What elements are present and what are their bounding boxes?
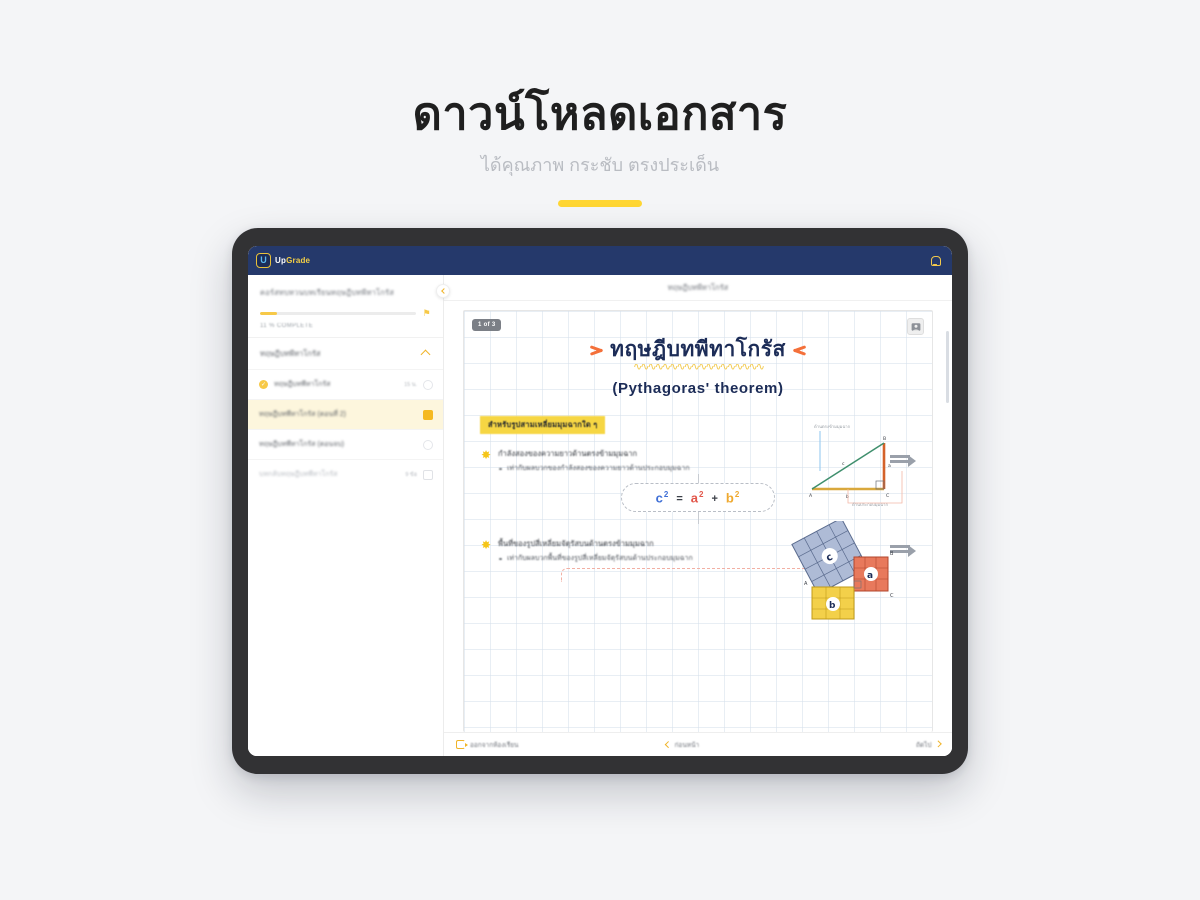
chevron-up-icon [421, 349, 431, 359]
brand-logo[interactable]: U UpGrade [256, 253, 310, 268]
brand-text-grade: Grade [286, 256, 310, 265]
arrow-in-left-icon [794, 347, 807, 354]
page-title: ดาวน์โหลดเอกสาร [0, 86, 1200, 142]
brand-text-up: Up [275, 256, 286, 265]
download-icon[interactable] [907, 318, 924, 335]
main-header: ทฤษฎีบทพีทาโกรัส [444, 275, 952, 301]
formula-term-a: a2 [691, 490, 705, 505]
progress-track [260, 312, 416, 315]
main-header-title: ทฤษฎีบทพีทาโกรัส [668, 282, 728, 294]
trophy-icon: ⚑ [422, 309, 431, 318]
document-title-english: (Pythagoras' theorem) [480, 380, 916, 397]
exit-icon [456, 740, 465, 749]
page-counter-badge: 1 of 3 [472, 319, 501, 331]
svg-text:A: A [804, 581, 808, 587]
document-viewer[interactable]: 1 of 3 ท [444, 301, 952, 732]
lesson-question-count: 9 ข้อ [405, 471, 417, 479]
svg-text:b: b [829, 601, 836, 611]
course-title: คอร์สทบทวนบทเรียนทฤษฎีบทพีทาโกรัส [260, 287, 431, 298]
sidebar-item-lesson-4[interactable]: บทกลับทฤษฎีบทพีทาโกรัส 9 ข้อ [248, 459, 443, 489]
document-page: 1 of 3 ท [463, 310, 933, 732]
arrow-in-right-icon [589, 347, 602, 354]
formula-term-b: b2 [726, 490, 740, 505]
course-progress: ⚑ [260, 309, 431, 318]
notification-bell-icon[interactable] [928, 254, 942, 268]
hero-section: ดาวน์โหลดเอกสาร ได้คุณภาพ กระชับ ตรงประเ… [0, 0, 1200, 207]
sidebar-section-header[interactable]: ทฤษฎีบทพีทาโกรัส [248, 337, 443, 369]
previous-label: ก่อนหน้า [675, 740, 700, 750]
main-panel: ทฤษฎีบทพีทาโกรัส 1 of 3 [444, 275, 952, 756]
right-triangle-diagram: ด้านตรงข้ามมุมฉาก A B C [776, 421, 926, 507]
formula-equals: = [676, 493, 683, 505]
lesson-list: ✓ ทฤษฎีบทพีทาโกรัส 15 น. ทฤษฎีบทพีทาโกรั… [248, 369, 443, 756]
page-root: ดาวน์โหลดเอกสาร ได้คุณภาพ กระชับ ตรงประเ… [0, 0, 1200, 900]
sidebar-section-title: ทฤษฎีบทพีทาโกรัส [260, 348, 320, 360]
svg-text:ด้านประกอบมุมฉาก: ด้านประกอบมุมฉาก [852, 502, 889, 507]
vertical-scrollbar[interactable] [946, 331, 949, 403]
highlight-text: สำหรับรูปสามเหลี่ยมมุมฉากใด ๆ [480, 416, 605, 434]
sidebar-item-lesson-2[interactable]: ทฤษฎีบทพีทาโกรัส (ตอนที่ 2) [248, 399, 443, 429]
play-icon [423, 410, 433, 420]
sparkle-icon [480, 539, 492, 551]
formula-plus: + [711, 493, 718, 505]
next-button[interactable]: ถัดไป [916, 740, 940, 750]
app-body: คอร์สทบทวนบทเรียนทฤษฎีบทพีทาโกรัส ⚑ 11 %… [248, 275, 952, 756]
chevron-left-icon [441, 288, 447, 294]
app-top-bar: U UpGrade [248, 246, 952, 275]
title-squiggle-underline: ∿∿∿∿∿∿∿∿∿∿∿∿∿∿∿∿∿∿ [480, 364, 916, 374]
lesson-label: บทกลับทฤษฎีบทพีทาโกรัส [259, 470, 399, 480]
lock-icon [423, 440, 433, 450]
progress-label: 11 % COMPLETE [260, 323, 431, 329]
sidebar-item-lesson-1[interactable]: ✓ ทฤษฎีบทพีทาโกรัส 15 น. [248, 369, 443, 399]
course-header: คอร์สทบทวนบทเรียนทฤษฎีบทพีทาโกรัส ⚑ 11 %… [248, 275, 443, 337]
svg-text:a: a [888, 464, 891, 469]
tablet-screen: U UpGrade คอร์สทบทวนบทเรียนทฤษฎีบทพีทาโก… [248, 246, 952, 756]
exit-classroom-button[interactable]: ออกจากห้องเรียน [456, 740, 666, 750]
svg-text:C: C [890, 593, 894, 599]
lesson-label: ทฤษฎีบทพีทาโกรัส [274, 380, 398, 390]
bottom-toolbar: ออกจากห้องเรียน ก่อนหน้า ถัดไป [444, 732, 952, 756]
sidebar-collapse-button[interactable] [436, 284, 450, 298]
diagram-column: ด้านตรงข้ามมุมฉาก A B C [776, 421, 926, 613]
document-icon [423, 380, 433, 390]
lesson-label: ทฤษฎีบทพีทาโกรัส (ตอนจบ) [259, 440, 417, 450]
pythagorean-squares-diagram: c [776, 521, 926, 613]
course-sidebar: คอร์สทบทวนบทเรียนทฤษฎีบทพีทาโกรัส ⚑ 11 %… [248, 275, 444, 756]
next-label: ถัดไป [916, 740, 932, 750]
document-title-row: ทฤษฎีบทพีทาโกรัส [480, 337, 916, 363]
exit-label: ออกจากห้องเรียน [470, 740, 518, 750]
svg-text:c: c [842, 462, 845, 467]
svg-text:B: B [883, 436, 886, 442]
lesson-duration: 15 น. [404, 381, 417, 389]
svg-text:a: a [867, 571, 873, 581]
chevron-left-icon [665, 741, 671, 747]
logo-mark-icon: U [256, 253, 271, 268]
connector-line [698, 474, 699, 483]
svg-text:A: A [809, 493, 813, 499]
previous-button[interactable]: ก่อนหน้า [666, 740, 699, 750]
brand-wordmark: UpGrade [275, 256, 310, 265]
svg-text:B: B [890, 551, 894, 557]
quiz-icon [423, 470, 433, 480]
page-subtitle: ได้คุณภาพ กระชับ ตรงประเด็น [0, 150, 1200, 179]
lesson-label: ทฤษฎีบทพีทาโกรัส (ตอนที่ 2) [259, 410, 417, 420]
title-underline-rule [558, 200, 642, 207]
document-title-thai: ทฤษฎีบทพีทาโกรัส [610, 337, 786, 363]
tablet-device-frame: U UpGrade คอร์สทบทวนบทเรียนทฤษฎีบทพีทาโก… [232, 228, 968, 774]
sparkle-icon [480, 449, 492, 461]
progress-fill [260, 312, 277, 315]
svg-text:C: C [886, 493, 889, 499]
svg-text:b: b [846, 494, 849, 500]
svg-text:ด้านตรงข้ามมุมฉาก: ด้านตรงข้ามมุมฉาก [814, 424, 851, 430]
connector-line-lower [698, 512, 699, 524]
lesson-status-dot: ✓ [259, 380, 268, 389]
sidebar-item-lesson-3[interactable]: ทฤษฎีบทพีทาโกรัส (ตอนจบ) [248, 429, 443, 459]
pythagoras-formula: c2 = a2 + b2 [621, 483, 776, 512]
formula-term-c: c2 [656, 490, 670, 505]
chevron-right-icon [935, 741, 941, 747]
